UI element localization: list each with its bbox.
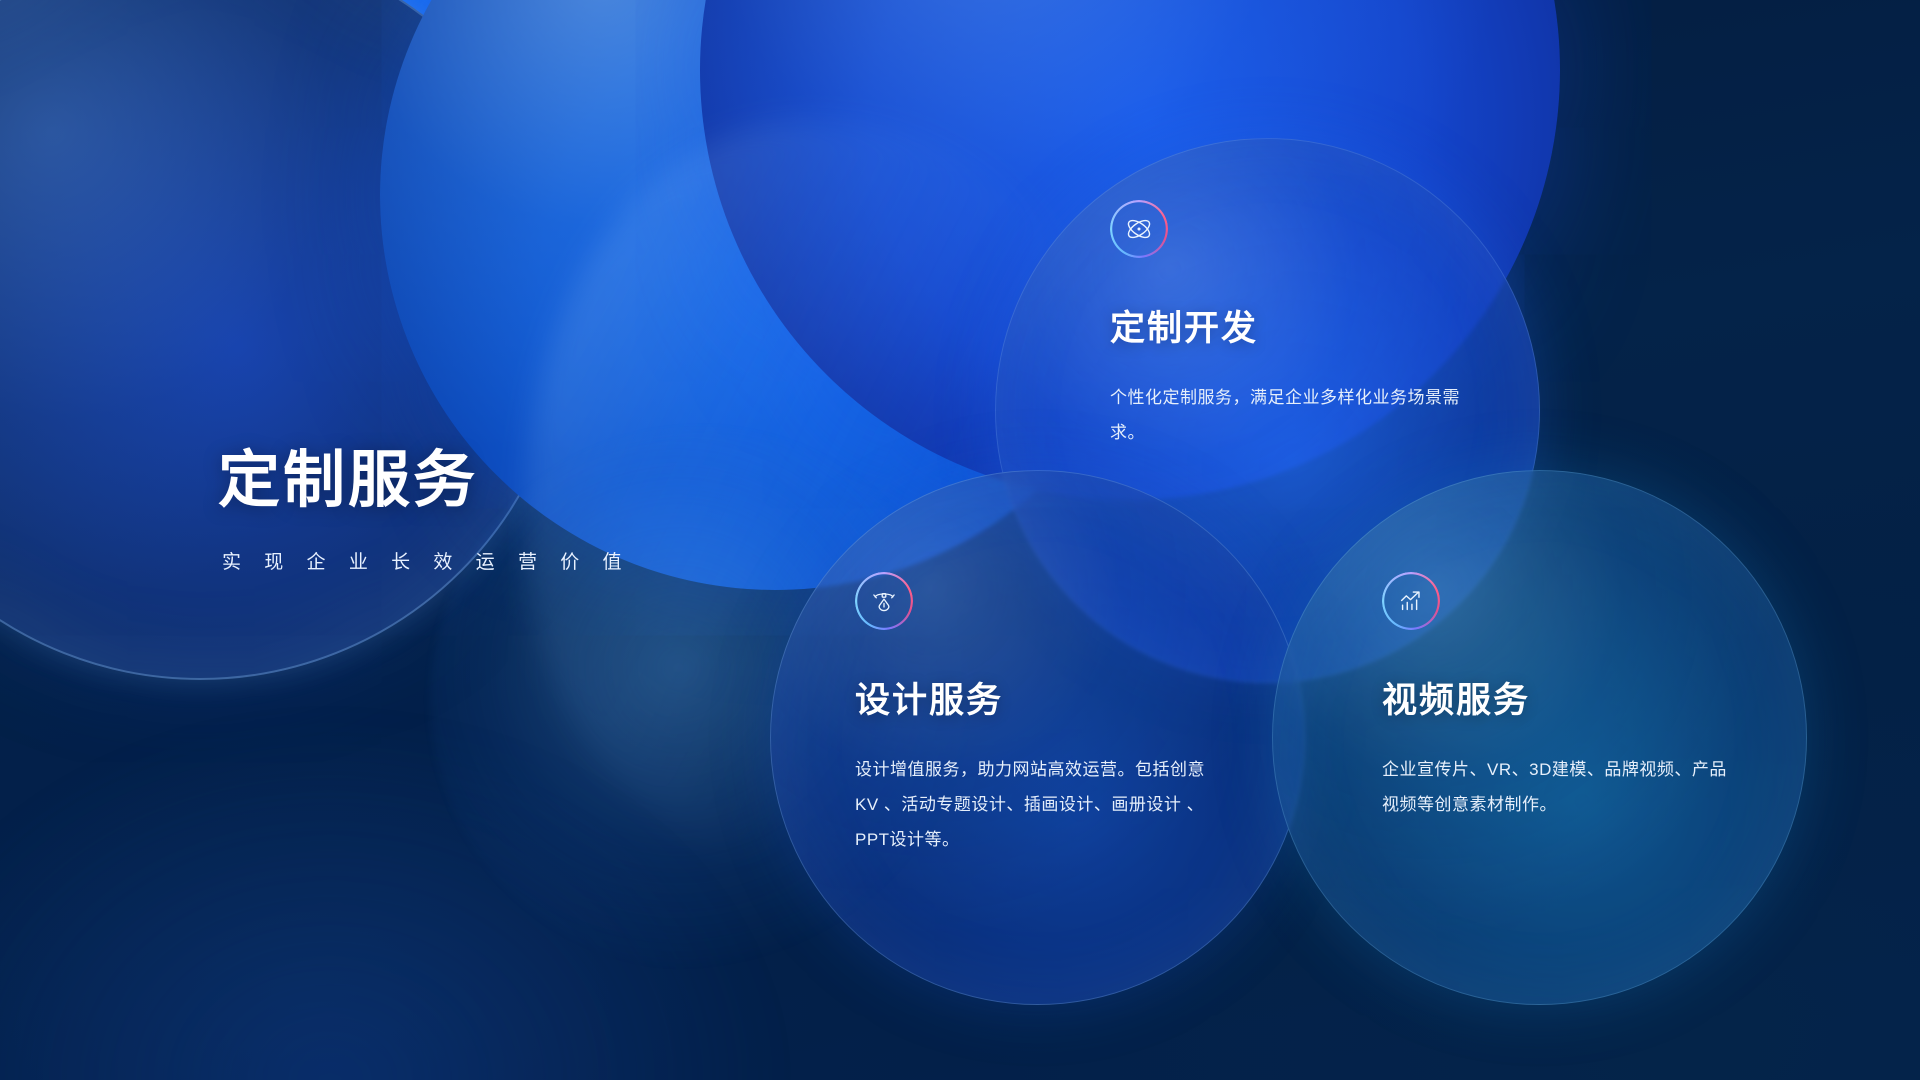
page-title: 定制服务 <box>218 448 631 513</box>
icon-glyph-chart-trend-up <box>1382 572 1440 630</box>
service-card-title: 视频服务 <box>1382 672 1732 723</box>
service-card-custom-development[interactable]: 定制开发 个性化定制服务，满足企业多样化业务场景需求。 <box>1110 200 1460 451</box>
chart-trend-up-icon <box>1382 572 1440 630</box>
service-card-description: 企业宣传片、VR、3D建模、品牌视频、产品视频等创意素材制作。 <box>1382 753 1732 823</box>
service-card-design-service[interactable]: 设计服务 设计增值服务，助力网站高效运营。包括创意KV 、活动专题设计、插画设计… <box>855 572 1227 858</box>
icon-glyph-pen-nib <box>855 572 913 630</box>
service-card-description: 个性化定制服务，满足企业多样化业务场景需求。 <box>1110 381 1460 451</box>
page-subtitle: 实 现 企 业 长 效 运 营 价 值 <box>222 547 631 574</box>
atom-orbit-icon <box>1110 200 1168 258</box>
icon-glyph-atom <box>1110 200 1168 258</box>
service-card-description: 设计增值服务，助力网站高效运营。包括创意KV 、活动专题设计、插画设计、画册设计… <box>855 753 1227 858</box>
hero-headline: 定制服务 实 现 企 业 长 效 运 营 价 值 <box>218 448 631 574</box>
service-card-title: 设计服务 <box>855 672 1227 723</box>
service-card-video-service[interactable]: 视频服务 企业宣传片、VR、3D建模、品牌视频、产品视频等创意素材制作。 <box>1382 572 1732 823</box>
pen-nib-icon <box>855 572 913 630</box>
hero-stage: 定制服务 实 现 企 业 长 效 运 营 价 值 定制开发 个性化定制服务，满足… <box>0 0 1920 1080</box>
service-card-title: 定制开发 <box>1110 300 1460 351</box>
